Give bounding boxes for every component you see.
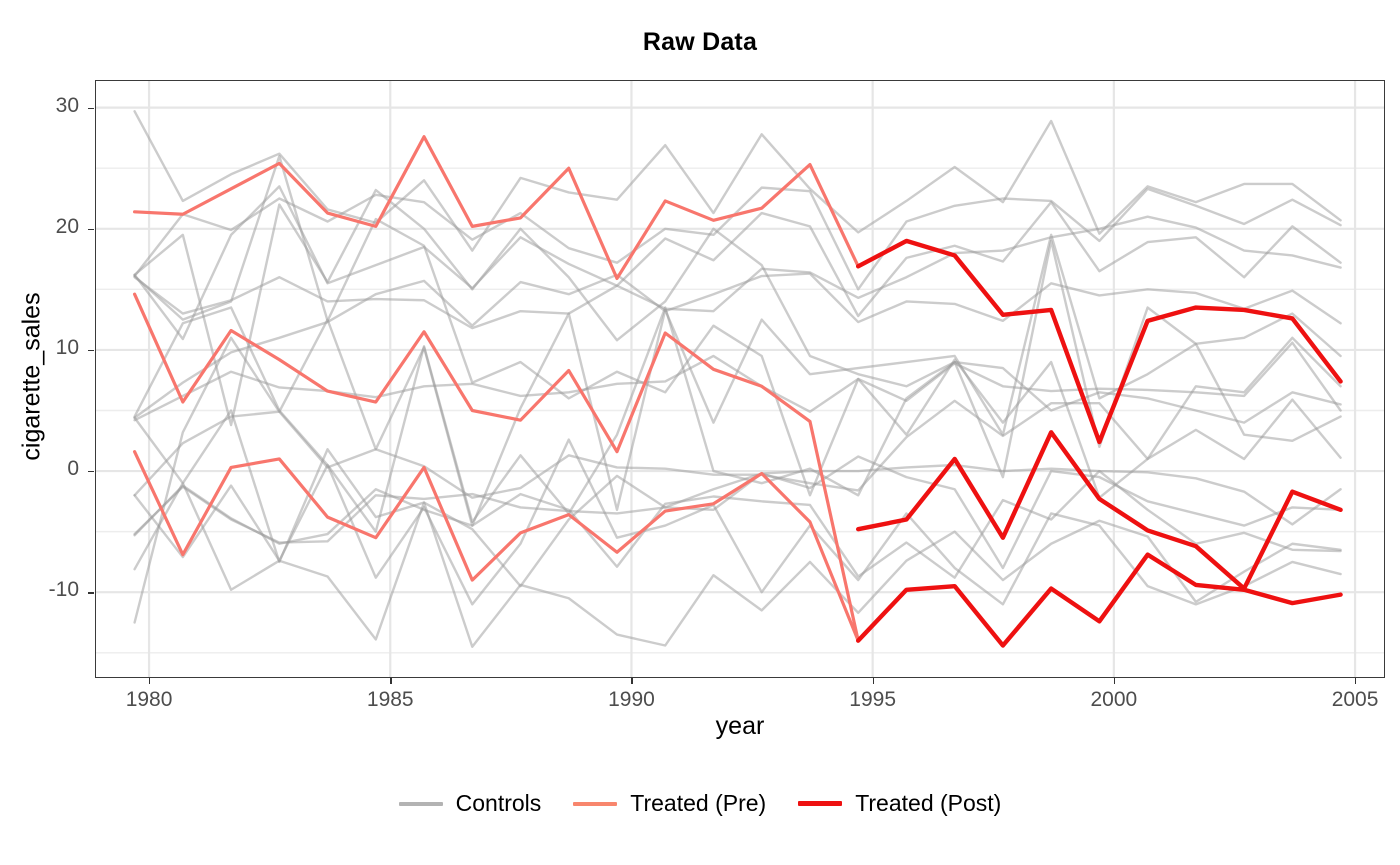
x-tick-label: 1995: [828, 688, 918, 712]
y-tick-label: -10: [19, 578, 79, 602]
y-tick-label: 10: [19, 336, 79, 360]
chart-title: Raw Data: [0, 28, 1400, 57]
y-tick-mark: [88, 108, 94, 109]
x-tick-label: 2005: [1310, 688, 1400, 712]
y-tick-label: 0: [19, 457, 79, 481]
x-tick-mark: [1114, 678, 1115, 684]
legend-line-icon: [573, 802, 617, 806]
x-tick-mark: [149, 678, 150, 684]
x-tick-label: 1990: [586, 688, 676, 712]
x-tick-mark: [390, 678, 391, 684]
legend-label: Treated (Pre): [630, 790, 766, 817]
legend-line-icon: [399, 802, 443, 806]
y-tick-label: 20: [19, 215, 79, 239]
legend-label: Treated (Post): [855, 790, 1001, 817]
legend-label: Controls: [456, 790, 542, 817]
x-tick-mark: [631, 678, 632, 684]
chart-legend: ControlsTreated (Pre)Treated (Post): [0, 790, 1400, 817]
plot-svg: [96, 81, 1384, 677]
y-tick-mark: [88, 350, 94, 351]
legend-item[interactable]: Treated (Pre): [573, 790, 766, 817]
x-axis-title: year: [95, 712, 1385, 741]
x-tick-mark: [873, 678, 874, 684]
x-tick-label: 1985: [345, 688, 435, 712]
y-tick-mark: [88, 592, 94, 593]
legend-line-icon: [798, 801, 842, 806]
y-tick-label: 30: [19, 94, 79, 118]
x-tick-label: 1980: [104, 688, 194, 712]
x-tick-label: 2000: [1069, 688, 1159, 712]
y-tick-mark: [88, 471, 94, 472]
legend-item[interactable]: Treated (Post): [798, 790, 1001, 817]
legend-item[interactable]: Controls: [399, 790, 542, 817]
plot-panel: [95, 80, 1385, 678]
y-tick-mark: [88, 229, 94, 230]
x-tick-mark: [1355, 678, 1356, 684]
chart-root: Raw Data cigarette_sales -100102030 1980…: [0, 0, 1400, 865]
